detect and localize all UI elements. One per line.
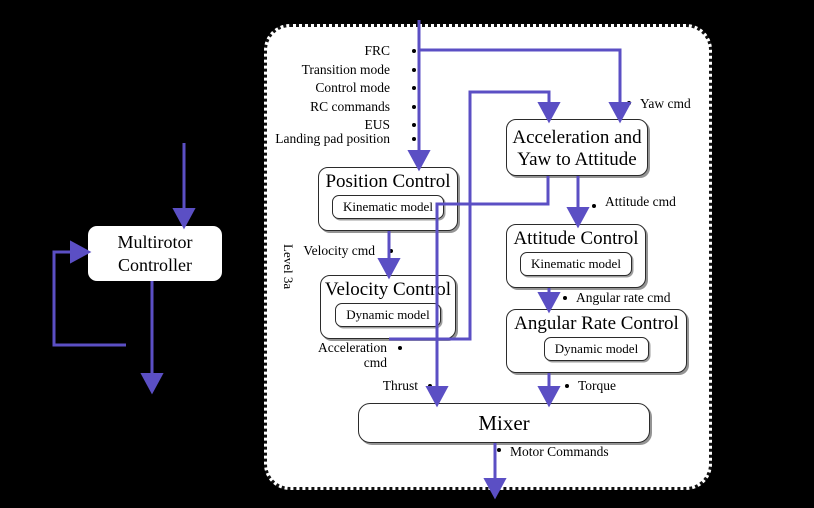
input-dot-eus	[412, 123, 416, 127]
input-label-frc: FRC	[200, 43, 390, 59]
diagram-canvas: Multirotor Controller Level 3a FRC Trans…	[0, 0, 814, 508]
input-dot-control-mode	[412, 86, 416, 90]
attitude-cmd-label: Attitude cmd	[605, 194, 676, 210]
velocity-control-block[interactable]: Velocity Control Dynamic model	[320, 275, 456, 339]
acceleration-yaw-to-attitude-block[interactable]: Acceleration and Yaw to Attitude	[506, 119, 648, 176]
motor-commands-dot	[497, 448, 501, 452]
angular-rate-control-title: Angular Rate Control	[514, 310, 679, 335]
input-label-rc-commands: RC commands	[200, 99, 390, 115]
thrust-label: Thrust	[340, 378, 418, 394]
angular-rate-control-submodel: Dynamic model	[544, 337, 649, 361]
mixer-block[interactable]: Mixer	[358, 403, 650, 443]
position-control-title: Position Control	[325, 168, 450, 193]
input-dot-transition-mode	[412, 68, 416, 72]
multirotor-controller-line2: Controller	[118, 254, 192, 277]
multirotor-controller-line1: Multirotor	[118, 231, 193, 254]
input-label-landing-pad-position: Landing pad position	[200, 131, 390, 147]
torque-dot	[565, 384, 569, 388]
input-dot-frc	[412, 49, 416, 53]
multirotor-controller-block[interactable]: Multirotor Controller	[88, 226, 222, 281]
angular-rate-cmd-label: Angular rate cmd	[576, 290, 670, 306]
acceleration-cmd-label-line2: cmd	[235, 355, 387, 371]
input-label-transition-mode: Transition mode	[200, 62, 390, 78]
yaw-cmd-dot	[627, 101, 631, 105]
attitude-control-submodel: Kinematic model	[520, 252, 632, 276]
velocity-control-title: Velocity Control	[325, 276, 451, 301]
angular-rate-control-block[interactable]: Angular Rate Control Dynamic model	[506, 309, 687, 373]
angular-rate-cmd-dot	[563, 296, 567, 300]
position-control-block[interactable]: Position Control Kinematic model	[318, 167, 458, 231]
input-dot-rc-commands	[412, 105, 416, 109]
position-control-submodel: Kinematic model	[332, 195, 444, 219]
attitude-cmd-dot	[592, 204, 596, 208]
torque-label: Torque	[578, 378, 616, 394]
input-label-control-mode: Control mode	[200, 80, 390, 96]
acceleration-yaw-to-attitude-title-line1: Acceleration and	[512, 125, 641, 149]
velocity-cmd-dot	[389, 249, 393, 253]
motor-commands-label: Motor Commands	[510, 444, 609, 460]
velocity-cmd-label: Velocity cmd	[230, 243, 375, 259]
attitude-control-block[interactable]: Attitude Control Kinematic model	[506, 224, 646, 288]
acceleration-cmd-label-line1: Acceleration	[235, 340, 387, 356]
thrust-dot	[428, 384, 432, 388]
acceleration-cmd-dot	[398, 346, 402, 350]
velocity-control-submodel: Dynamic model	[335, 303, 440, 327]
attitude-control-title: Attitude Control	[513, 225, 638, 250]
acceleration-yaw-to-attitude-title-line2: Yaw to Attitude	[517, 149, 636, 171]
mixer-title: Mixer	[478, 411, 529, 436]
yaw-cmd-label: Yaw cmd	[640, 96, 691, 112]
input-dot-landing-pad-position	[412, 137, 416, 141]
